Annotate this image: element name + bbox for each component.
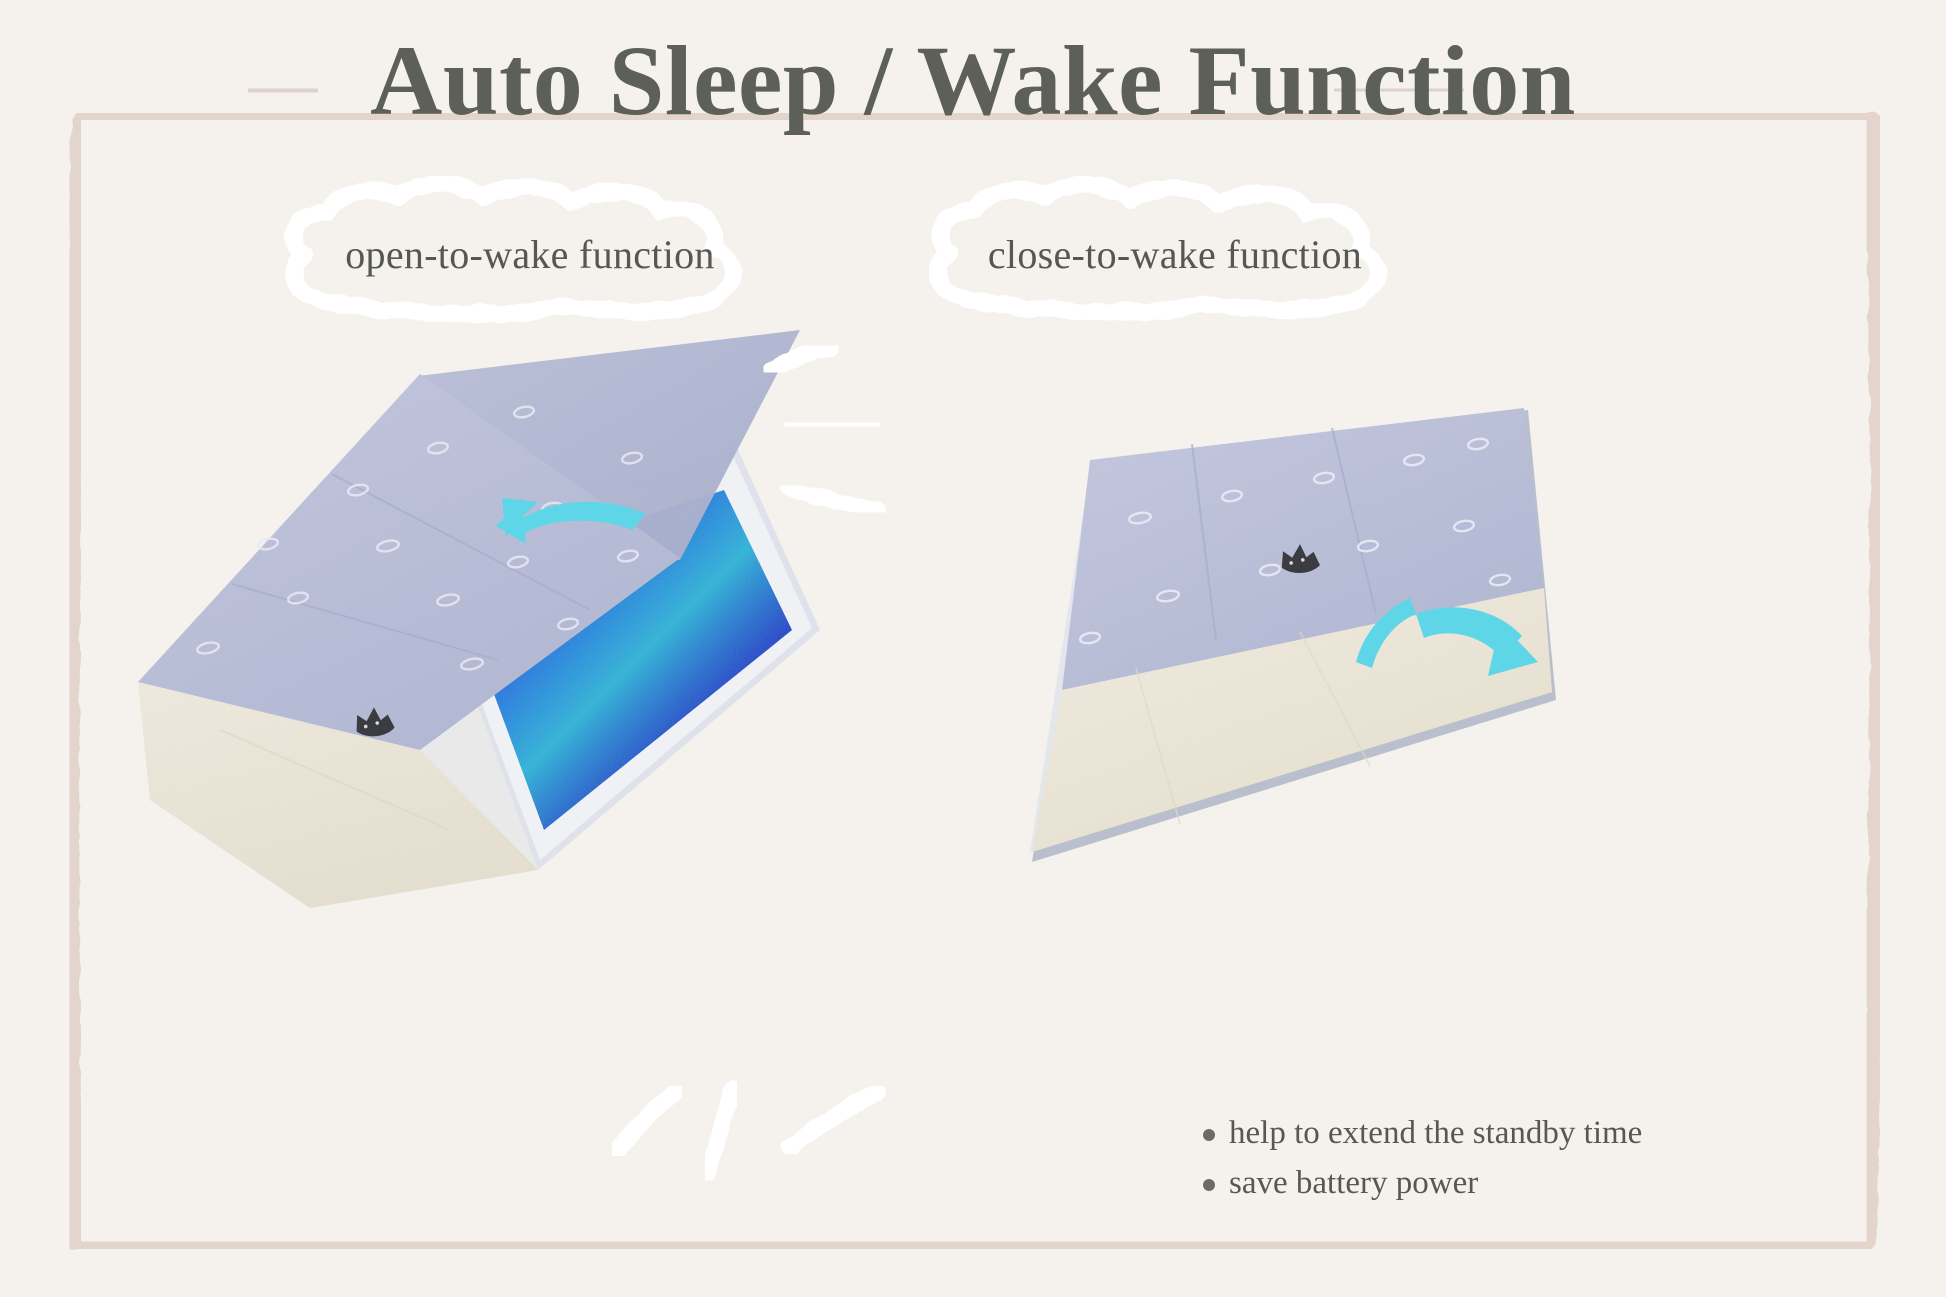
poster-canvas: Auto Sleep / Wake Function open-to-wake …	[0, 0, 1946, 1297]
bullet-dot-icon	[1203, 1179, 1215, 1191]
label-close-to-wake-text: close-to-wake function	[915, 176, 1435, 326]
label-open-to-wake-text: open-to-wake function	[270, 176, 790, 326]
list-item: help to extend the standby time	[1203, 1108, 1642, 1158]
bullet-dot-icon	[1203, 1129, 1215, 1141]
motion-spark-lines	[770, 348, 878, 510]
list-item: save battery power	[1203, 1158, 1642, 1208]
ipad-open-case	[120, 330, 920, 920]
label-close-to-wake: close-to-wake function	[915, 176, 1435, 326]
page-title: Auto Sleep / Wake Function	[0, 28, 1946, 133]
motion-spark-lines-bottom	[600, 1030, 940, 1190]
feature-bullet-list: help to extend the standby time save bat…	[1203, 1108, 1642, 1208]
bullet-text: save battery power	[1229, 1165, 1478, 1201]
ipad-closed-case	[940, 400, 1660, 910]
label-open-to-wake: open-to-wake function	[270, 176, 790, 326]
bullet-text: help to extend the standby time	[1229, 1115, 1642, 1151]
